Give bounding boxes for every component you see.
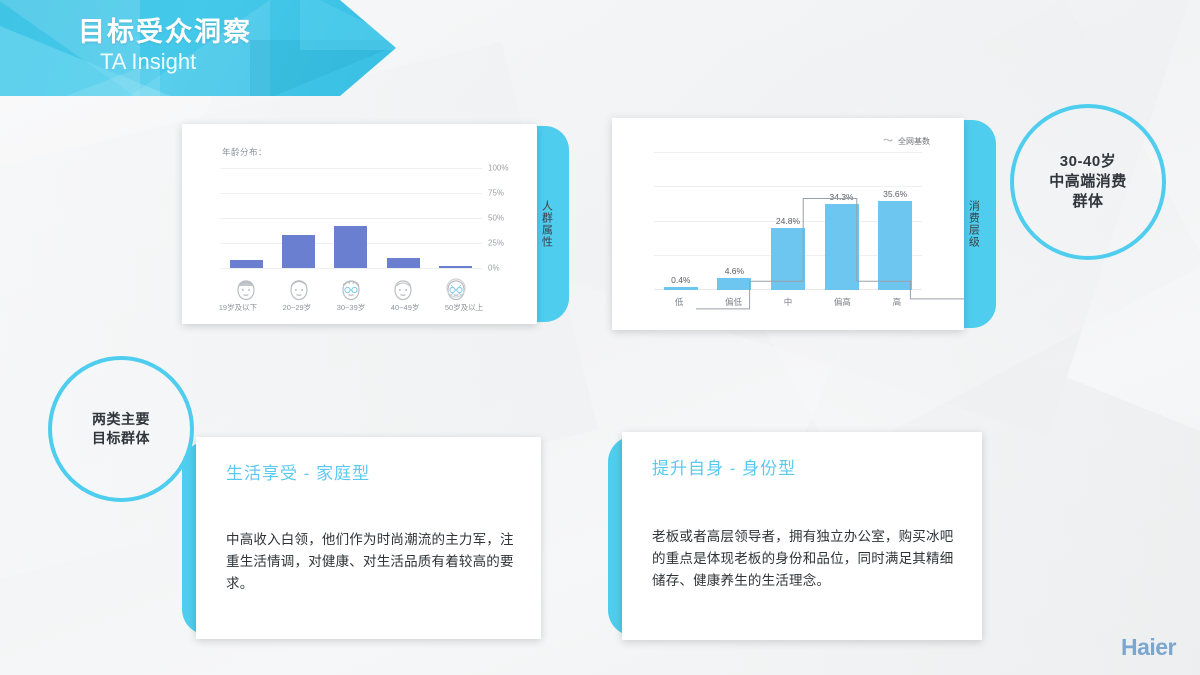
badge-target-segment: 30-40岁中高端消费群体 [1010, 104, 1166, 260]
chart1-ytick-0: 0% [488, 264, 500, 273]
chart2-xlabel-4: 高 [893, 296, 902, 308]
badge-two-groups: 两类主要目标群体 [48, 356, 194, 502]
chart2-bar-1: 4.6% [712, 152, 756, 290]
chart2-value-label-0: 0.4% [671, 275, 690, 285]
slide-root: 目标受众洞察 TA Insight 人群属性 年龄分布： 100% 75% 50… [0, 0, 1200, 675]
chart2-bar-0: 0.4% [659, 152, 703, 290]
face-child-icon [233, 276, 259, 304]
haier-logo-text: Haier [1121, 634, 1176, 660]
chart2-value-label-1: 4.6% [725, 266, 744, 276]
chart1-ytick-50: 50% [488, 214, 504, 223]
chart2-legend[interactable]: 〜 全网基数 [883, 136, 930, 147]
persona-card-business-title: 提升自身 - 身份型 [652, 454, 796, 479]
header-banner: 目标受众洞察 TA Insight [0, 0, 396, 96]
background-decoration [0, 0, 1200, 675]
chart2-xaxis-labels: 低偏低中偏高高 [654, 296, 922, 308]
chart2-xlabel-1: 偏低 [725, 296, 742, 308]
persona-card-business: 提升自身 - 身份型 老板或者高层领导者，拥有独立办公室，购买冰吧的重点是体现老… [622, 432, 982, 640]
chart1-title: 年龄分布： [222, 146, 267, 158]
chart2-plot-area: 0.4%4.6%24.8%34.3%35.6% [654, 152, 922, 290]
face-adult-icon [338, 276, 364, 304]
page-title: 目标受众洞察 [78, 18, 252, 48]
chart1-ytick-100: 100% [488, 164, 508, 173]
chart1-plot-area: 100% 75% 50% 25% 0% [220, 168, 482, 268]
chart2-xlabel-0: 低 [675, 296, 684, 308]
chart2-xlabel-2: 中 [784, 296, 793, 308]
age-distribution-chart-card: 年龄分布： 100% 75% 50% 25% 0% 19岁及以下20~29岁30… [182, 124, 537, 324]
chart1-xlabel-2: 30~39岁 [337, 302, 366, 313]
chart1-xlabel-0: 19岁及以下 [219, 302, 257, 313]
badge-target-segment-label: 30-40岁中高端消费群体 [1049, 152, 1127, 213]
header-text-block: 目标受众洞察 TA Insight [78, 18, 252, 74]
haier-logo: Haier [1121, 634, 1176, 661]
chart1-gridline-0 [220, 268, 482, 269]
chart1-xlabel-1: 20~29岁 [283, 302, 312, 313]
chart1-bar-fill [387, 258, 420, 268]
chart2-bar-4: 35.6% [873, 152, 917, 290]
face-senior-icon [443, 276, 469, 304]
chart2-bar-fill [825, 204, 859, 290]
face-young-icon [286, 276, 312, 304]
chart2-legend-label: 全网基数 [898, 136, 930, 147]
chart2-xlabel-3: 偏高 [834, 296, 851, 308]
chart1-bar-fill [230, 260, 263, 268]
persona-card-business-body: 老板或者高层领导者，拥有独立办公室，购买冰吧的重点是体现老板的身份和品位，同时满… [652, 526, 960, 592]
persona-card-family: 生活享受 - 家庭型 中高收入白领，他们作为时尚潮流的主力军，注重生活情调，对健… [196, 437, 541, 639]
page-subtitle: TA Insight [100, 50, 252, 74]
chart1-bar-fill [334, 226, 367, 268]
consumption-level-chart-card: 〜 全网基数 0.4%4.6%24.8%34.3%35.6% 低偏低中偏高高 [612, 118, 964, 330]
chart1-bar-fill [282, 235, 315, 268]
persona-card-family-body: 中高收入白领，他们作为时尚潮流的主力军，注重生活情调，对健康、对生活品质有着较高… [226, 529, 519, 595]
chart2-bar-fill [878, 201, 912, 290]
face-middle-icon [390, 276, 416, 304]
wave-line-icon: 〜 [883, 137, 893, 147]
chart2-bar-fill [771, 228, 805, 290]
chart1-xlabel-4: 50岁及以上 [445, 302, 483, 313]
chart2-bar-fill [664, 287, 698, 290]
chart1-xaxis-labels: 19岁及以下20~29岁30~39岁40~49岁50岁及以上 [206, 302, 496, 313]
chart2-bar-group: 0.4%4.6%24.8%34.3%35.6% [654, 152, 922, 290]
persona-card-family-title: 生活享受 - 家庭型 [226, 459, 370, 484]
chart1-bar-2 [331, 168, 371, 268]
chart2-bar-2: 24.8% [766, 152, 810, 290]
chart1-bar-fill [439, 266, 472, 268]
chart1-bar-1 [279, 168, 319, 268]
chart1-ytick-25: 25% [488, 239, 504, 248]
chart1-xlabel-3: 40~49岁 [391, 302, 420, 313]
chart2-value-label-2: 24.8% [776, 216, 800, 226]
chart2-bar-3: 34.3% [820, 152, 864, 290]
chart1-bar-3 [383, 168, 423, 268]
chart2-value-label-3: 34.3% [830, 192, 854, 202]
chart1-face-icon-row [220, 274, 482, 304]
chart2-bar-fill [717, 278, 751, 290]
chart1-ytick-75: 75% [488, 189, 504, 198]
chart1-bar-0 [226, 168, 266, 268]
badge-two-groups-label: 两类主要目标群体 [92, 410, 150, 448]
chart1-bar-group [220, 168, 482, 268]
chart2-value-label-4: 35.6% [883, 189, 907, 199]
chart1-bar-4 [436, 168, 476, 268]
